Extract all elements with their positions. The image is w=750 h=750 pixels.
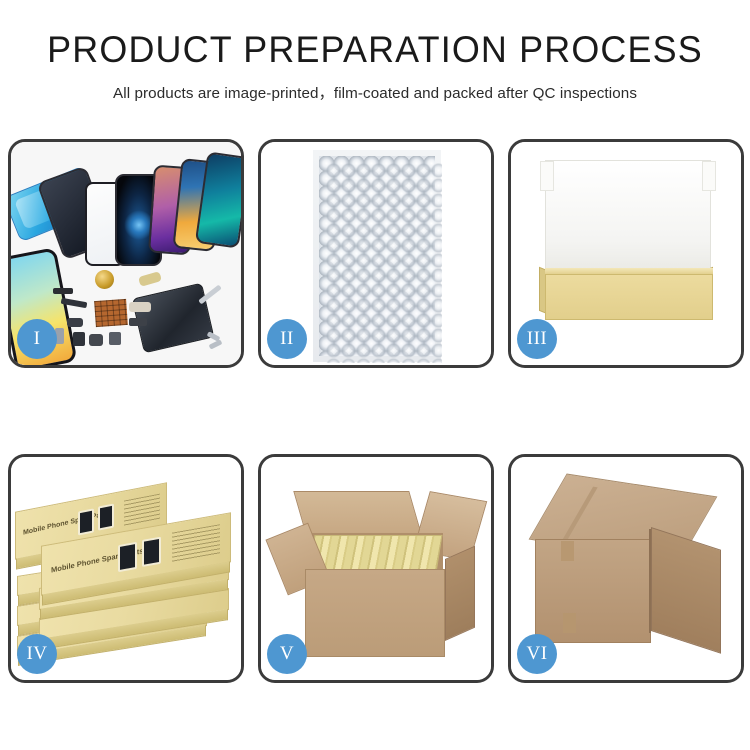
step-panel-4: Mobile Phone Spare Parts Mobile Phone Sp…	[8, 454, 244, 683]
step-badge-4: IV	[17, 634, 57, 674]
step-badge-3: III	[517, 319, 557, 359]
open-carton-icon	[279, 483, 479, 667]
step-badge-5: V	[267, 634, 307, 674]
box-print-screen-icon	[142, 537, 161, 567]
box-lid-icon	[545, 160, 711, 276]
carton-front-panel-icon	[535, 539, 651, 643]
spare-part-icon	[89, 334, 103, 346]
process-steps-grid: I II III	[8, 139, 742, 683]
step-badge-6: VI	[517, 634, 557, 674]
chip-array-icon	[94, 299, 128, 327]
box-print-screen-icon	[78, 508, 94, 535]
box-print-screen-icon	[118, 542, 137, 572]
page-subtitle: All products are image-printed，film-coat…	[0, 81, 750, 103]
carton-side-panel-icon	[445, 546, 475, 641]
step-badge-2: II	[267, 319, 307, 359]
carton-right-panel-icon	[651, 527, 721, 654]
spare-part-icon	[109, 332, 121, 345]
spare-part-icon	[129, 318, 147, 326]
carton-vertical-edge-icon	[649, 529, 651, 633]
step-panel-1: I	[8, 139, 244, 368]
step-panel-3: III	[508, 139, 744, 368]
screw-icon	[209, 339, 223, 349]
spare-part-icon	[53, 288, 73, 294]
page-header: PRODUCT PREPARATION PROCESS All products…	[0, 0, 750, 103]
carton-tape-patch-icon	[561, 541, 574, 561]
step-panel-6: VI	[508, 454, 744, 683]
box-front-panel-icon	[545, 274, 713, 320]
product-preparation-page: PRODUCT PREPARATION PROCESS All products…	[0, 0, 750, 750]
step-panel-5: V	[258, 454, 494, 683]
step-panel-2: II	[258, 139, 494, 368]
spare-part-icon	[129, 302, 151, 312]
carton-tape-patch-icon	[563, 613, 576, 633]
page-title: PRODUCT PREPARATION PROCESS	[11, 31, 739, 70]
bubble-wrap-overlay-icon	[326, 163, 442, 363]
spare-part-icon	[138, 271, 162, 287]
spare-part-icon	[67, 318, 83, 327]
spare-part-icon	[73, 332, 85, 346]
step-badge-1: I	[17, 319, 57, 359]
copper-coil-icon	[95, 270, 114, 289]
carton-front-panel-icon	[305, 569, 445, 657]
box-print-screen-icon	[98, 504, 114, 531]
sealed-carton-icon	[535, 485, 725, 665]
